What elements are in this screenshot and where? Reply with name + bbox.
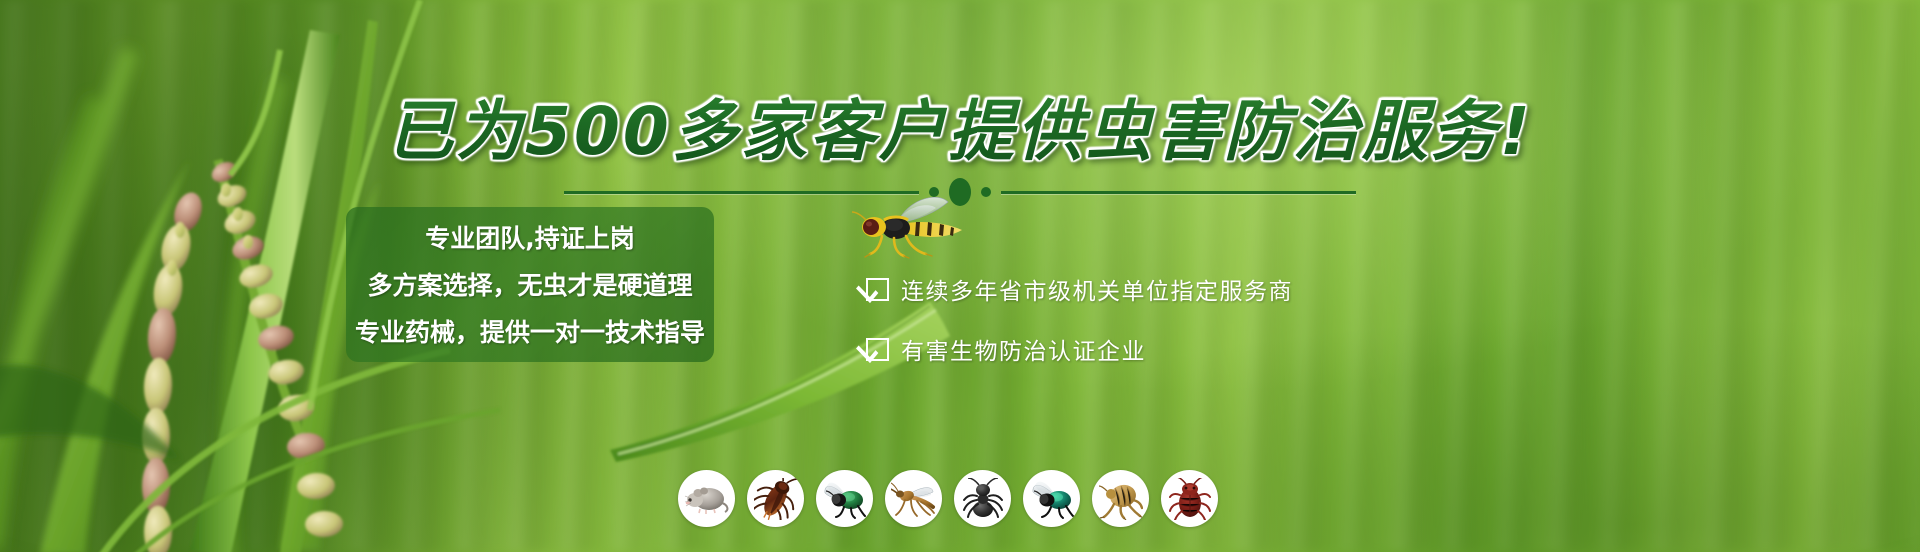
list-item: 有害生物防治认证企业 (866, 332, 1386, 366)
cockroach-icon (754, 478, 798, 520)
divider-line-left (564, 191, 919, 194)
pest-icon-flea[interactable] (1092, 470, 1149, 527)
selling-point-line-1: 专业团队,持证上岗 (425, 219, 635, 255)
pest-icon-ant[interactable] (954, 470, 1011, 527)
mosquito-icon (891, 479, 937, 519)
blowfly-icon (1029, 479, 1075, 519)
selling-points-panel: 专业团队,持证上岗 多方案选择，无虫才是硬道理 专业药械，提供一对一技术指导 (346, 207, 714, 362)
bedbug-icon (1169, 478, 1211, 520)
certification-label: 连续多年省市级机关单位指定服务商 (901, 272, 1293, 306)
ant-icon (961, 478, 1005, 520)
pest-control-hero-banner: 已为500多家客户提供虫害防治服务! 专业团队,持证上岗 多方案选择，无虫才是硬… (0, 0, 1920, 552)
certification-list: 连续多年省市级机关单位指定服务商 有害生物防治认证企业 (866, 272, 1386, 392)
pest-icon-bedbug[interactable] (1161, 470, 1218, 527)
hoverfly-icon (840, 196, 980, 266)
checkbox-checked-icon (866, 278, 889, 301)
certification-label: 有害生物防治认证企业 (901, 332, 1146, 366)
selling-point-line-3: 专业药械，提供一对一技术指导 (355, 313, 705, 349)
pest-icon-cockroach[interactable] (747, 470, 804, 527)
pest-icon-mosquito[interactable] (885, 470, 942, 527)
rodent-icon (684, 479, 730, 519)
housefly-icon (822, 479, 868, 519)
list-item: 连续多年省市级机关单位指定服务商 (866, 272, 1386, 306)
pest-icon-housefly[interactable] (816, 470, 873, 527)
selling-point-line-2: 多方案选择，无虫才是硬道理 (367, 266, 692, 302)
checkbox-checked-icon (866, 338, 889, 361)
pest-icon-row (678, 470, 1218, 527)
pest-icon-rodent[interactable] (678, 470, 735, 527)
pest-icon-blowfly[interactable] (1023, 470, 1080, 527)
divider-dot-small-right (981, 187, 991, 197)
flea-icon (1099, 478, 1143, 520)
divider-line-right (1001, 191, 1356, 194)
